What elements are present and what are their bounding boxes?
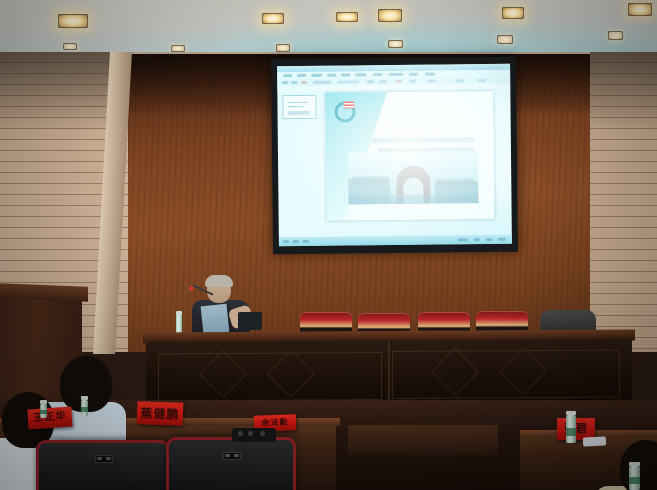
conference-hall-photo: 王正华蕉健鹏余法勤张碧 (0, 0, 657, 490)
microphone-head-icon (189, 286, 194, 291)
laptop[interactable] (238, 312, 262, 330)
bottle-cap (176, 311, 182, 315)
mobile-phone[interactable] (583, 436, 606, 446)
audience-seat[interactable] (166, 437, 296, 490)
seat-vent-icon (95, 455, 113, 463)
camera-equipment (232, 428, 276, 442)
stage-chair-row (0, 0, 657, 360)
audience-seat[interactable] (36, 440, 170, 490)
presenter-hair (205, 275, 233, 287)
seat-vent-icon (223, 452, 241, 460)
audience-seat-row (0, 400, 657, 490)
